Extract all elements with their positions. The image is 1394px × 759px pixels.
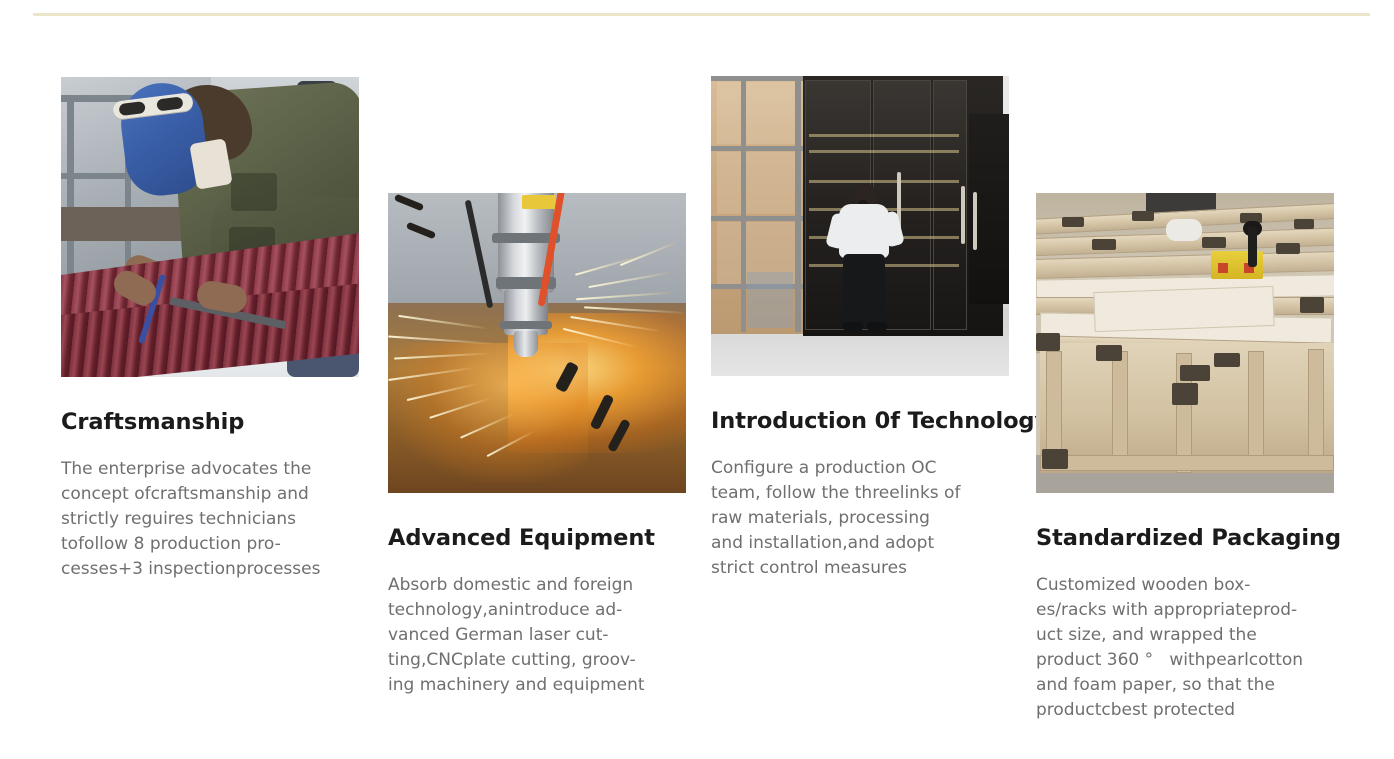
body-line: product 360 ° withpearlcotton <box>1036 648 1336 673</box>
body-line: es/racks with appropriateprod- <box>1036 598 1336 623</box>
body-line: team, follow the threelinks of <box>711 481 1011 506</box>
body-line: The enterprise advocates the <box>61 457 361 482</box>
advanced-equipment-photo <box>388 193 686 493</box>
body-line: ting,CNCplate cutting, groov- <box>388 648 688 673</box>
body-line: Absorb domestic and foreign <box>388 573 688 598</box>
body-line: Customized wooden box- <box>1036 573 1336 598</box>
body-line: and installation,and adopt <box>711 531 1011 556</box>
body-line: productcbest protected <box>1036 698 1336 723</box>
panel-title: Craftsmanship <box>61 409 363 435</box>
body-line: and foam paper, so that the <box>1036 673 1336 698</box>
body-line: raw materials, processing <box>711 506 1011 531</box>
panel-body: Customized wooden box- es/racks with app… <box>1036 573 1336 723</box>
craftsmanship-photo <box>61 77 359 377</box>
panel-body: The enterprise advocates the concept ofc… <box>61 457 361 582</box>
standardized-packaging-photo <box>1036 193 1334 493</box>
body-line: technology,anintroduce ad- <box>388 598 688 623</box>
panel-body: Configure a production OC team, follow t… <box>711 456 1011 581</box>
body-line: concept ofcraftsmanship and <box>61 482 361 507</box>
introduction-of-technology-photo <box>711 76 1009 376</box>
panel-title: Introduction 0f Technology <box>711 408 1013 434</box>
body-line: Configure a production OC <box>711 456 1011 481</box>
feature-panel-advanced-equipment: Advanced Equipment Absorb domestic and f… <box>388 193 690 698</box>
panel-title: Advanced Equipment <box>388 525 690 551</box>
feature-panel-craftsmanship: Craftsmanship The enterprise advocates t… <box>61 77 363 582</box>
body-line: cesses+3 inspectionprocesses <box>61 557 361 582</box>
feature-panels: Craftsmanship The enterprise advocates t… <box>0 0 1394 759</box>
body-line: ing machinery and equipment <box>388 673 688 698</box>
panel-title: Standardized Packaging <box>1036 525 1338 551</box>
panel-body: Absorb domestic and foreign technology,a… <box>388 573 688 698</box>
body-line: strictly reguires technicians <box>61 507 361 532</box>
feature-panel-introduction-of-technology: Introduction 0f Technology Configure a p… <box>711 76 1013 581</box>
feature-panel-standardized-packaging: Standardized Packaging Customized wooden… <box>1036 193 1338 723</box>
body-line: uct size, and wrapped the <box>1036 623 1336 648</box>
body-line: strict control measures <box>711 556 1011 581</box>
body-line: vanced German laser cut- <box>388 623 688 648</box>
body-line: tofollow 8 production pro- <box>61 532 361 557</box>
